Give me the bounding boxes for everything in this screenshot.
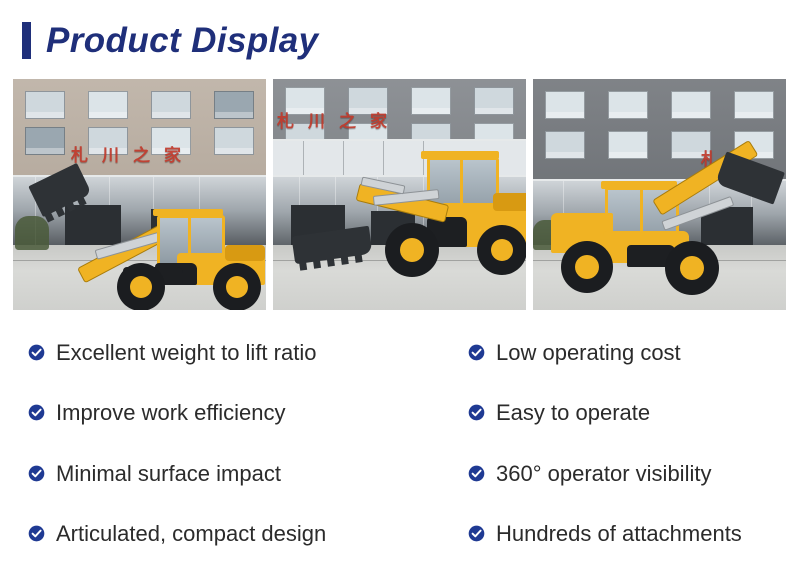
feature-label: Low operating cost [496, 340, 681, 365]
feature-list: Excellent weight to lift ratio Low opera… [0, 322, 800, 564]
window-icon [88, 91, 128, 119]
window-icon [545, 131, 585, 159]
signage-char: 之 [133, 141, 150, 166]
signage-char: 川 [308, 107, 325, 132]
feature-label: Articulated, compact design [56, 521, 326, 546]
check-circle-icon [468, 465, 485, 482]
title-accent-bar [22, 22, 31, 59]
product-photo-3[interactable]: 札 川 [533, 79, 786, 310]
building-signage: 札 川 之 家 [71, 141, 181, 166]
wheel-loader-machine [539, 159, 785, 299]
signage-char: 之 [339, 107, 356, 132]
check-circle-icon [468, 344, 485, 361]
window-icon [25, 127, 65, 155]
wheel-loader-machine [281, 143, 526, 293]
feature-item: 360° operator visibility [440, 461, 800, 486]
check-circle-icon [28, 465, 45, 482]
window-icon [411, 87, 451, 115]
feature-label: Excellent weight to lift ratio [56, 340, 316, 365]
check-circle-icon [468, 404, 485, 421]
window-icon [545, 91, 585, 119]
feature-item: Articulated, compact design [0, 521, 440, 546]
product-photo-1[interactable]: 札 川 之 家 [13, 79, 266, 310]
check-circle-icon [468, 525, 485, 542]
feature-label: Hundreds of attachments [496, 521, 742, 546]
feature-item: Minimal surface impact [0, 461, 440, 486]
feature-item: Easy to operate [440, 400, 800, 425]
window-icon [608, 91, 648, 119]
check-circle-icon [28, 404, 45, 421]
window-icon [25, 91, 65, 119]
signage-char: 札 [277, 107, 294, 132]
window-icon [608, 131, 648, 159]
feature-label: Easy to operate [496, 400, 650, 425]
window-icon [474, 87, 514, 115]
product-display-page: Product Display 札 [0, 0, 800, 564]
window-icon [671, 91, 711, 119]
check-circle-icon [28, 525, 45, 542]
page-title-text: Product Display [46, 23, 318, 58]
feature-item: Low operating cost [440, 340, 800, 365]
feature-label: Minimal surface impact [56, 461, 281, 486]
window-icon [214, 127, 254, 155]
product-image-gallery: 札 川 之 家 [13, 79, 787, 310]
feature-item: Improve work efficiency [0, 400, 440, 425]
check-circle-icon [28, 344, 45, 361]
window-icon [151, 91, 191, 119]
feature-label: 360° operator visibility [496, 461, 711, 486]
window-icon [214, 91, 254, 119]
feature-item: Hundreds of attachments [440, 521, 800, 546]
page-title: Product Display [22, 18, 318, 62]
wheel-loader-machine [27, 167, 266, 297]
signage-char: 家 [164, 141, 181, 166]
signage-char: 川 [102, 141, 119, 166]
feature-item: Excellent weight to lift ratio [0, 340, 440, 365]
signage-char: 札 [71, 141, 88, 166]
window-icon [734, 91, 774, 119]
product-photo-2[interactable]: 札 川 之 家 [273, 79, 526, 310]
building-signage: 札 川 之 家 [277, 107, 387, 132]
feature-label: Improve work efficiency [56, 400, 285, 425]
signage-char: 家 [370, 107, 387, 132]
